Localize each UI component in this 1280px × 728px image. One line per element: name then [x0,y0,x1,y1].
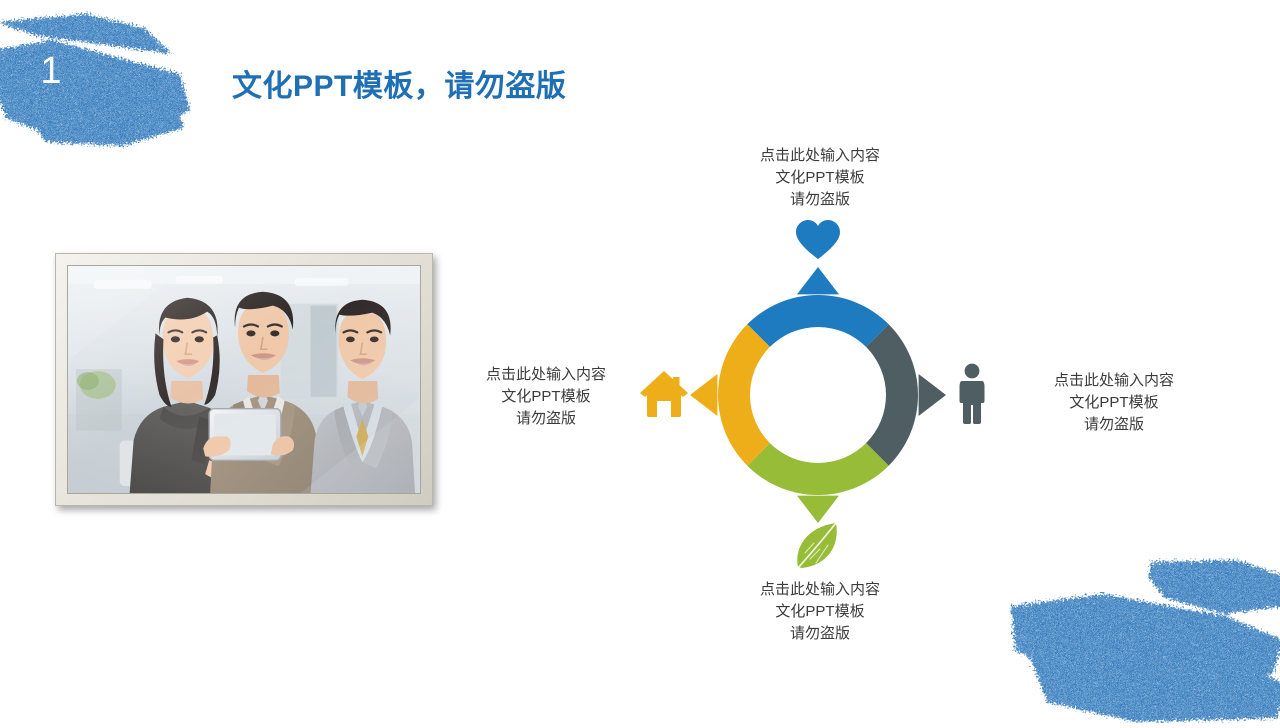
label-top-line1: 点击此处输入内容 [722,145,918,167]
label-left: 点击此处输入内容 文化PPT模板 请勿盗版 [448,364,644,430]
label-top-line3: 请勿盗版 [722,189,918,211]
segment-left [690,324,770,465]
leaf-icon [797,523,837,568]
label-top-line2: 文化PPT模板 [722,167,918,189]
label-bottom-line3: 请勿盗版 [722,623,918,645]
label-right-line2: 文化PPT模板 [1016,392,1212,414]
slide-number: 1 [34,52,68,90]
label-right: 点击此处输入内容 文化PPT模板 请勿盗版 [1016,370,1212,436]
label-left-line1: 点击此处输入内容 [448,364,644,386]
segment-bottom [747,443,888,523]
person-icon [960,364,985,424]
cycle-diagram [628,215,1008,575]
label-right-line1: 点击此处输入内容 [1016,370,1212,392]
label-bottom-line1: 点击此处输入内容 [722,579,918,601]
brush-stroke-top-left [0,6,209,156]
label-bottom: 点击此处输入内容 文化PPT模板 请勿盗版 [722,579,918,645]
label-right-line3: 请勿盗版 [1016,414,1212,436]
label-top: 点击此处输入内容 文化PPT模板 请勿盗版 [722,145,918,211]
segment-right [866,324,946,465]
segment-top [747,267,888,347]
home-icon [640,371,688,417]
photo-image [67,265,421,494]
slide-canvas: 1 文化PPT模板，请勿盗版 [0,0,1280,720]
page-title: 文化PPT模板，请勿盗版 [232,61,566,105]
label-left-line2: 文化PPT模板 [448,386,644,408]
label-bottom-line2: 文化PPT模板 [722,601,918,623]
photo-frame [55,253,433,506]
brush-stroke-bottom-right [985,558,1280,723]
label-left-line3: 请勿盗版 [448,408,644,430]
heart-icon [796,220,840,259]
